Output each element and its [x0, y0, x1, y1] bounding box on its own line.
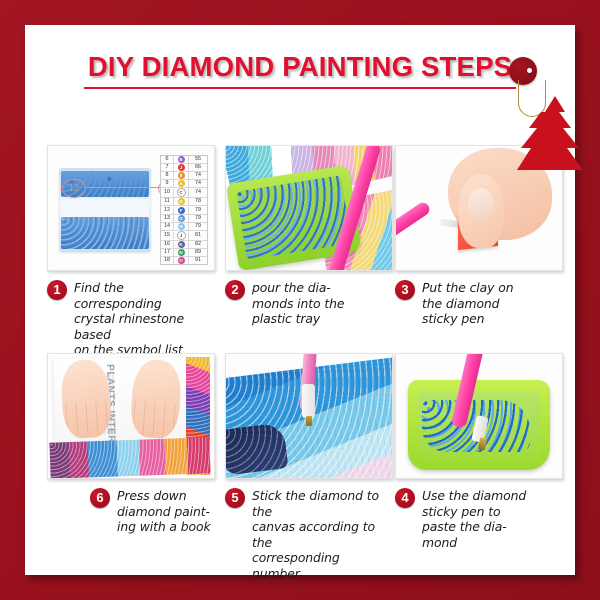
- symbol-row-code: 81: [189, 232, 207, 239]
- symbol-row-glyph: C: [174, 188, 189, 197]
- step-text-2: pour the dia- monds into the plastic tra…: [252, 280, 344, 327]
- symbol-row-glyph: H: [174, 223, 189, 230]
- symbol-row-code: 79: [189, 223, 207, 230]
- symbol-row-code: 55: [189, 156, 207, 163]
- step-caption-1: 1 Find the corresponding crystal rhinest…: [47, 280, 213, 358]
- pen-tip-5: [306, 416, 312, 426]
- symbol-row-glyph: F: [174, 207, 189, 214]
- symbol-row-code: 79: [189, 215, 207, 222]
- symbol-chart-row: 15J81: [161, 231, 207, 241]
- step-caption-3: 3 Put the clay on the diamond sticky pen: [395, 280, 561, 327]
- symbol-row-glyph: J: [174, 164, 189, 171]
- symbol-row-number: 16: [161, 241, 174, 248]
- step-text-5: Stick the diamond to the canvas accordin…: [252, 488, 391, 582]
- page-title: DIY DIAMOND PAINTING STEPS: [84, 51, 516, 89]
- symbol-chart-row: 8874: [161, 172, 207, 180]
- step-photo-4: [395, 353, 563, 479]
- step-caption-4: 4 Use the diamond sticky pen to paste th…: [395, 488, 561, 550]
- steps-grid: 12 6B557J6688749A7410C7411D7812F7913G791…: [39, 105, 561, 560]
- symbol-row-code: 74: [189, 172, 207, 179]
- symbol-chart-row: 16K82: [161, 241, 207, 249]
- step-text-6: Press down diamond paint- ing with a boo…: [117, 488, 211, 535]
- symbol-row-glyph: N: [174, 249, 189, 256]
- step-cell-6: PLANTS INTERIORS 6 Press down diamond pa…: [47, 353, 213, 535]
- step-cell-3: 3 Put the clay on the diamond sticky pen: [395, 145, 561, 327]
- pen-barrel-5: [302, 384, 315, 418]
- symbol-chart-row: 7J66: [161, 164, 207, 172]
- thumb-nail-3: [468, 188, 494, 224]
- step-badge-3: 3: [395, 280, 415, 300]
- symbol-row-number: 15: [161, 232, 174, 239]
- symbol-row-code: 78: [189, 198, 207, 205]
- symbol-row-glyph: G: [174, 215, 189, 222]
- symbol-row-code: 82: [189, 241, 207, 248]
- symbol-row-glyph: O: [174, 257, 189, 264]
- step-photo-6: PLANTS INTERIORS: [47, 353, 215, 479]
- left-hand-fingers: [65, 401, 109, 438]
- symbol-chart-row: 17N89: [161, 249, 207, 257]
- bag-beads-bottom: [61, 217, 149, 249]
- white-content-panel: DIY DIAMOND PAINTING STEPS 12: [25, 25, 575, 575]
- step-badge-6: 6: [90, 488, 110, 508]
- tray-diamonds: [236, 175, 351, 260]
- step-cell-4: 4 Use the diamond sticky pen to paste th…: [395, 353, 561, 550]
- symbol-row-glyph: 8: [174, 172, 189, 179]
- dark-blue-diamond-area: [225, 422, 289, 475]
- step-cell-1: 12 6B557J6688749A7410C7411D7812F7913G791…: [47, 145, 213, 358]
- symbol-chart-row: 13G79: [161, 215, 207, 223]
- symbol-chart-table: 6B557J6688749A7410C7411D7812F7913G7914H7…: [160, 155, 208, 265]
- symbol-row-glyph: A: [174, 180, 189, 187]
- symbol-row-code: 74: [189, 180, 207, 187]
- symbol-row-glyph: K: [174, 241, 189, 248]
- symbol-chart-row: 12F79: [161, 206, 207, 214]
- symbol-row-number: 9: [161, 180, 174, 187]
- symbol-chart-row: 9A74: [161, 180, 207, 188]
- symbol-row-number: 7: [161, 164, 174, 171]
- bag-number-highlight: 12: [62, 179, 86, 198]
- bag-number-label: 12: [63, 180, 85, 197]
- step-photo-3: [395, 145, 563, 271]
- step-caption-5: 5 Stick the diamond to the canvas accord…: [225, 488, 391, 582]
- symbol-row-number: 14: [161, 223, 174, 230]
- step-photo-2: [225, 145, 393, 271]
- step-photo-1: 12 6B557J6688749A7410C7411D7812F7913G791…: [47, 145, 215, 271]
- symbol-row-glyph: B: [174, 156, 189, 163]
- step-badge-2: 2: [225, 280, 245, 300]
- symbol-chart-row: 10C74: [161, 188, 207, 198]
- right-hand-fingers: [132, 401, 176, 438]
- step-photo-5: [225, 353, 393, 479]
- symbol-row-number: 10: [161, 189, 174, 196]
- symbol-row-number: 8: [161, 172, 174, 179]
- step-caption-6: 6 Press down diamond paint- ing with a b…: [47, 488, 213, 535]
- step-badge-1: 1: [47, 280, 67, 300]
- symbol-row-code: 89: [189, 249, 207, 256]
- page-title-container: DIY DIAMOND PAINTING STEPS: [25, 51, 575, 89]
- step-caption-2: 2 pour the dia- monds into the plastic t…: [225, 280, 391, 327]
- step-text-1: Find the corresponding crystal rhineston…: [74, 280, 213, 358]
- symbol-row-glyph: D: [174, 198, 189, 205]
- step-badge-5: 5: [225, 488, 245, 508]
- step-badge-4: 4: [395, 488, 415, 508]
- step-cell-2: 2 pour the dia- monds into the plastic t…: [225, 145, 391, 327]
- step-cell-5: 5 Stick the diamond to the canvas accord…: [225, 353, 391, 582]
- symbol-row-number: 12: [161, 207, 174, 214]
- symbol-row-number: 17: [161, 249, 174, 256]
- symbol-row-code: 66: [189, 164, 207, 171]
- symbol-row-code: 91: [189, 257, 207, 264]
- step-text-3: Put the clay on the diamond sticky pen: [422, 280, 513, 327]
- diamond-painting-strip-bottom: [49, 437, 210, 479]
- step-text-4: Use the diamond sticky pen to paste the …: [422, 488, 526, 550]
- symbol-chart-row: 18O91: [161, 257, 207, 264]
- symbol-chart-row: 6B55: [161, 156, 207, 164]
- symbol-row-number: 18: [161, 257, 174, 264]
- symbol-chart-row: 11D78: [161, 198, 207, 206]
- symbol-row-number: 11: [161, 198, 174, 205]
- red-frame-border: DIY DIAMOND PAINTING STEPS 12: [0, 0, 600, 600]
- symbol-row-number: 13: [161, 215, 174, 222]
- symbol-row-code: 74: [189, 189, 207, 196]
- symbol-row-glyph: J: [174, 231, 189, 240]
- symbol-chart-row: 14H79: [161, 223, 207, 231]
- connector-line: [84, 187, 162, 188]
- symbol-row-number: 6: [161, 156, 174, 163]
- symbol-row-code: 79: [189, 207, 207, 214]
